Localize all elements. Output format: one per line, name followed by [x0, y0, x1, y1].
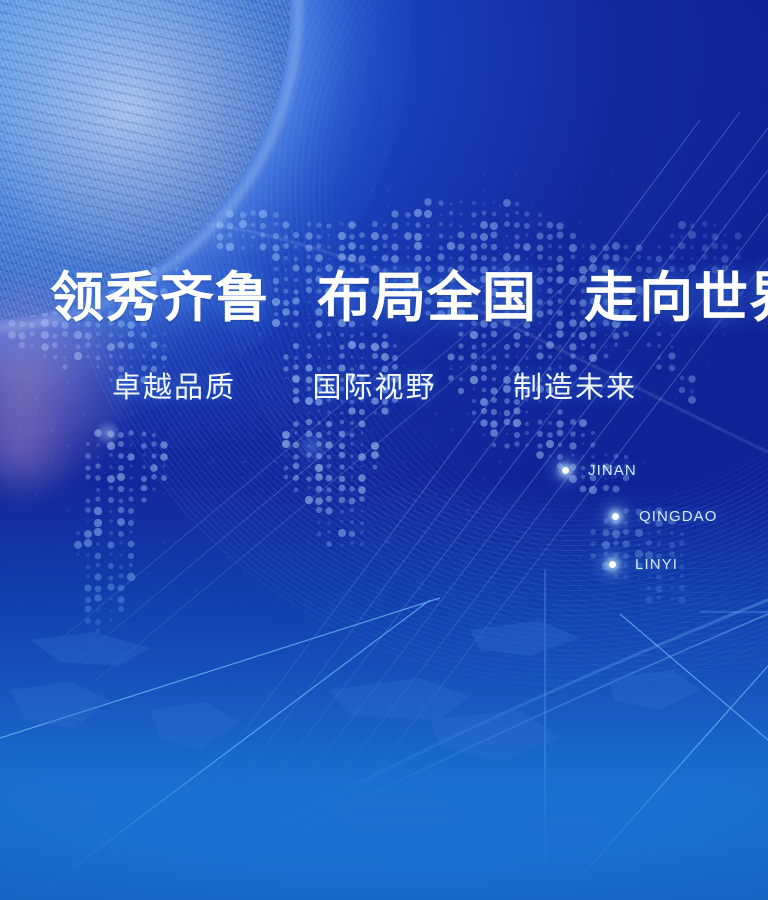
dotted-world-map [0, 170, 768, 690]
perspective-grid [0, 570, 768, 900]
city-dot-marker-icon [562, 467, 569, 474]
city-label-jinan: JINAN [588, 462, 637, 479]
vignette-overlay [0, 0, 768, 900]
concentric-arc-lines-alt [208, 0, 768, 680]
concentric-arc-lines [48, 0, 768, 690]
light-orb-small [295, 430, 329, 464]
light-orb [95, 420, 121, 446]
diagonal-light-streaks [0, 0, 768, 900]
city-label-qingdao: QINGDAO [639, 508, 718, 525]
subheadline-part-3: 制造未来 [513, 372, 637, 404]
city-marker-qingdao[interactable]: QINGDAO [612, 508, 718, 525]
subheadline-part-2: 国际视野 [313, 372, 437, 404]
lens-flare-small [0, 390, 80, 510]
bottom-sky-wash-lower [0, 740, 768, 900]
city-label-linyi: LINYI [635, 556, 678, 573]
city-dot-marker-icon [609, 561, 616, 568]
city-dot-marker-icon [612, 513, 619, 520]
headline-part-3: 走向世界 [584, 268, 768, 328]
bottom-sky-wash [0, 480, 768, 900]
banner-stage: 领秀齐鲁 布局全国 走向世界 卓越品质 国际视野 制造未来 JINAN QING… [0, 0, 768, 900]
headline-part-2: 布局全国 [317, 268, 537, 328]
headline: 领秀齐鲁 布局全国 走向世界 [50, 268, 768, 328]
subheadline: 卓越品质 国际视野 制造未来 [112, 371, 637, 405]
subheadline-part-1: 卓越品质 [112, 372, 236, 404]
city-marker-jinan[interactable]: JINAN [562, 462, 637, 479]
city-marker-linyi[interactable]: LINYI [609, 556, 678, 573]
headline-part-1: 领秀齐鲁 [50, 268, 270, 328]
